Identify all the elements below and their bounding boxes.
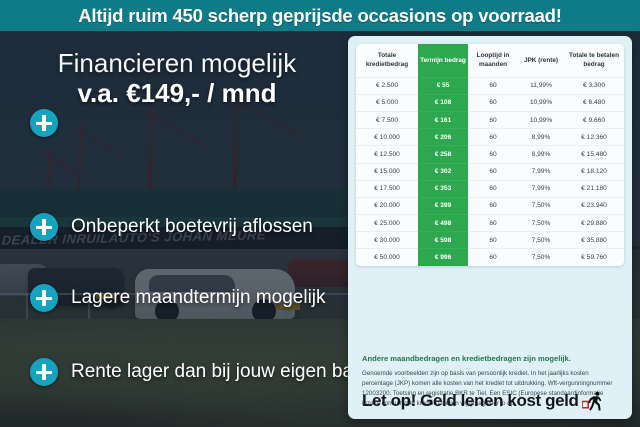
- plus-circle-icon: [30, 213, 58, 241]
- cell-jpk: 7,99%: [518, 180, 564, 197]
- cell-jpk: 10,99%: [518, 94, 564, 111]
- table-row: € 2.500€ 556011,99%€ 3.300: [356, 77, 624, 94]
- cell-looptijd: 60: [468, 146, 518, 163]
- table-row: € 25.000€ 498607,50%€ 29.880: [356, 215, 624, 232]
- cell-looptijd: 60: [468, 215, 518, 232]
- cell-totale-te-betalen: € 15.480: [564, 146, 624, 163]
- table-header-row: Totale kredietbedrag Termijn bedrag Loop…: [356, 44, 624, 77]
- cell-looptijd: 60: [468, 94, 518, 111]
- cell-termijn-bedrag: € 598: [418, 232, 468, 249]
- promo-content-column: Financieren mogelijk v.a. €149,- / mnd O…: [0, 31, 350, 427]
- cell-looptijd: 60: [468, 129, 518, 146]
- cell-totale-kredietbedrag: € 30.000: [356, 232, 418, 249]
- promo-headline-line1: Financieren mogelijk: [12, 49, 342, 78]
- table-row: € 5.000€ 1086010,99%€ 6.480: [356, 94, 624, 111]
- column-header-termijn-bedrag: Termijn bedrag: [418, 44, 468, 77]
- cell-totale-kredietbedrag: € 7.500: [356, 111, 418, 128]
- cell-jpk: 8,99%: [518, 146, 564, 163]
- promo-bullet-label: Lagere maandtermijn mogelijk: [71, 287, 326, 309]
- table-row: € 30.000€ 598607,50%€ 35.880: [356, 232, 624, 249]
- cell-termijn-bedrag: € 55: [418, 77, 468, 94]
- cell-looptijd: 60: [468, 163, 518, 180]
- column-header-jpk: JPK (rente): [518, 44, 564, 77]
- column-header-totale-kredietbedrag: Totale kredietbedrag: [356, 44, 418, 77]
- cell-looptijd: 60: [468, 249, 518, 266]
- financing-info-panel: Totale kredietbedrag Termijn bedrag Loop…: [348, 36, 632, 419]
- top-headline-text: Altijd ruim 450 scherp geprijsde occasio…: [78, 5, 562, 27]
- cell-totale-kredietbedrag: € 5.000: [356, 94, 418, 111]
- cell-jpk: 7,99%: [518, 163, 564, 180]
- column-header-looptijd: Looptijd in maanden: [468, 44, 518, 77]
- cell-totale-te-betalen: € 35.880: [564, 232, 624, 249]
- cell-termijn-bedrag: € 302: [418, 163, 468, 180]
- walking-man-warning-icon: [582, 391, 604, 411]
- cell-termijn-bedrag: € 498: [418, 215, 468, 232]
- top-headline-bar: Altijd ruim 450 scherp geprijsde occasio…: [0, 0, 640, 31]
- cell-totale-te-betalen: € 18.120: [564, 163, 624, 180]
- table-row: € 12.500€ 258608,99%€ 15.480: [356, 146, 624, 163]
- cell-totale-kredietbedrag: € 15.000: [356, 163, 418, 180]
- promo-headline-block: Financieren mogelijk v.a. €149,- / mnd: [12, 49, 342, 109]
- promo-headline-line2: v.a. €149,- / mnd: [12, 78, 342, 109]
- promo-bullet-rente-lager: Rente lager dan bij jouw eigen bank: [30, 358, 350, 386]
- rates-table-card: Totale kredietbedrag Termijn bedrag Loop…: [356, 44, 624, 266]
- cell-jpk: 8,99%: [518, 129, 564, 146]
- cell-totale-te-betalen: € 6.480: [564, 94, 624, 111]
- cell-jpk: 7,50%: [518, 232, 564, 249]
- cell-totale-kredietbedrag: € 2.500: [356, 77, 418, 94]
- cell-totale-te-betalen: € 29.880: [564, 215, 624, 232]
- table-row: € 10.000€ 206608,99%€ 12.360: [356, 129, 624, 146]
- cell-termijn-bedrag: € 399: [418, 197, 468, 214]
- credit-warning-block: Let op! Geld lenen kost geld: [362, 391, 620, 411]
- cell-jpk: 7,50%: [518, 197, 564, 214]
- plus-circle-icon: [30, 109, 58, 137]
- cell-termijn-bedrag: € 108: [418, 94, 468, 111]
- cell-totale-kredietbedrag: € 12.500: [356, 146, 418, 163]
- cell-totale-te-betalen: € 59.760: [564, 249, 624, 266]
- cell-totale-te-betalen: € 23.940: [564, 197, 624, 214]
- rates-table-body: € 2.500€ 556011,99%€ 3.300€ 5.000€ 10860…: [356, 77, 624, 266]
- cell-jpk: 7,50%: [518, 249, 564, 266]
- promo-bullet-label: Onbeperkt boetevrij aflossen: [71, 216, 313, 238]
- plus-circle-icon: [30, 284, 58, 312]
- cell-totale-kredietbedrag: € 25.000: [356, 215, 418, 232]
- cell-totale-te-betalen: € 12.360: [564, 129, 624, 146]
- cell-termijn-bedrag: € 996: [418, 249, 468, 266]
- cell-jpk: 10,99%: [518, 111, 564, 128]
- cell-totale-te-betalen: € 3.300: [564, 77, 624, 94]
- table-row: € 7.500€ 1616010,99%€ 9.660: [356, 111, 624, 128]
- financing-banner-ad: Altijd ruim 450 scherp geprijsde occasio…: [0, 0, 640, 427]
- panel-note-title: Andere maandbedragen en kredietbedragen …: [362, 354, 618, 364]
- promo-bullet-lagere-maandtermijn: Lagere maandtermijn mogelijk: [30, 284, 350, 312]
- cell-termijn-bedrag: € 353: [418, 180, 468, 197]
- cell-termijn-bedrag: € 161: [418, 111, 468, 128]
- column-header-totale-te-betalen: Totale te betalen bedrag: [564, 44, 624, 77]
- cell-totale-kredietbedrag: € 17.500: [356, 180, 418, 197]
- promo-bullet-label: Rente lager dan bij jouw eigen bank: [71, 361, 373, 383]
- table-row: € 17.500€ 353607,99%€ 21.180: [356, 180, 624, 197]
- cell-totale-te-betalen: € 21.180: [564, 180, 624, 197]
- cell-looptijd: 60: [468, 232, 518, 249]
- table-row: € 15.000€ 302607,99%€ 18.120: [356, 163, 624, 180]
- cell-looptijd: 60: [468, 111, 518, 128]
- credit-warning-text: Let op! Geld lenen kost geld: [362, 391, 578, 411]
- cell-totale-te-betalen: € 9.660: [564, 111, 624, 128]
- cell-looptijd: 60: [468, 77, 518, 94]
- cell-looptijd: 60: [468, 180, 518, 197]
- cell-totale-kredietbedrag: € 20.000: [356, 197, 418, 214]
- cell-looptijd: 60: [468, 197, 518, 214]
- cell-totale-kredietbedrag: € 10.000: [356, 129, 418, 146]
- table-row: € 50.000€ 996607,50%€ 59.760: [356, 249, 624, 266]
- table-row: € 20.000€ 399607,50%€ 23.940: [356, 197, 624, 214]
- cell-termijn-bedrag: € 206: [418, 129, 468, 146]
- promo-bullet-onbeperkt-aflossen: Onbeperkt boetevrij aflossen: [30, 213, 350, 241]
- cell-jpk: 11,99%: [518, 77, 564, 94]
- financing-rates-table: Totale kredietbedrag Termijn bedrag Loop…: [356, 44, 624, 266]
- cell-totale-kredietbedrag: € 50.000: [356, 249, 418, 266]
- cell-termijn-bedrag: € 258: [418, 146, 468, 163]
- plus-circle-icon: [30, 358, 58, 386]
- cell-jpk: 7,50%: [518, 215, 564, 232]
